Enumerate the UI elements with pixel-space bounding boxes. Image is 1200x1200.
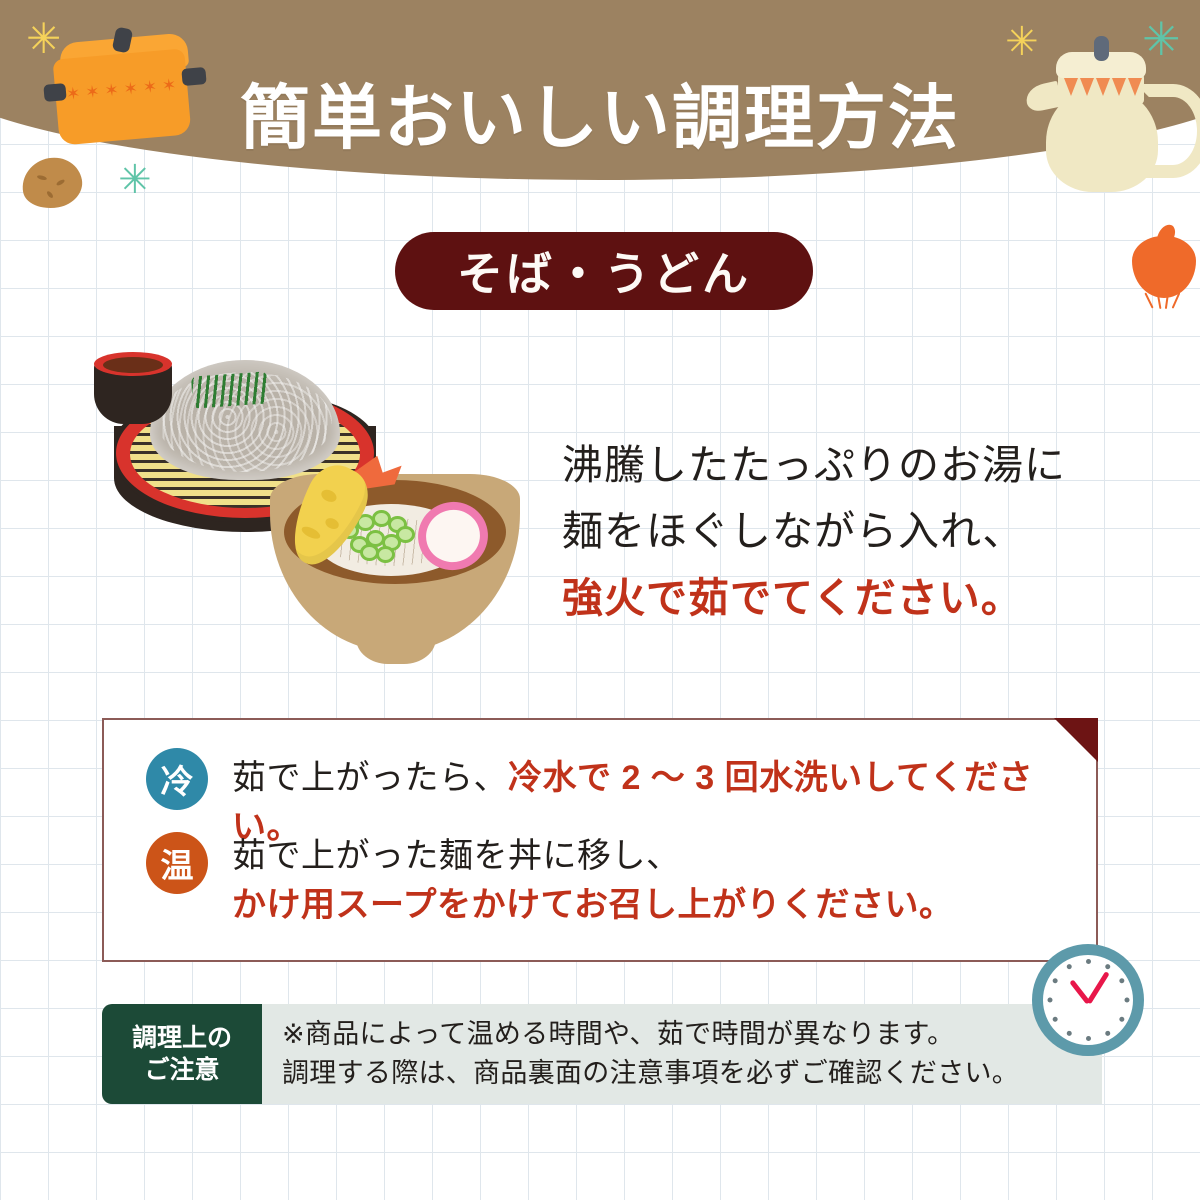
footer-note-line-2: 調理する際は、商品裏面の注意事項を必ずご確認ください。 (282, 1054, 1102, 1093)
dipping-sauce-cup (94, 352, 172, 426)
footer-label: 調理上の ご注意 (102, 1004, 262, 1104)
sparkle-teal-icon: ✳ (118, 160, 152, 200)
footer-note-body: ※商品によって温める時間や、茹で時間が異なります。 調理する際は、商品裏面の注意… (262, 1004, 1102, 1104)
onion-roots (1142, 292, 1188, 312)
header-banner: ✶✶✶✶✶✶ ✳ ✳ ✳ ✳ 簡単おいしい調理方法 (0, 0, 1200, 200)
page-title: 簡単おいしい調理方法 (0, 83, 1200, 153)
footer-label-line-1: 調理上の (132, 1022, 232, 1055)
badge-hot-icon: 温 (146, 832, 208, 894)
instruction-row-hot: 温 茹で上がった麺を丼に移し、 かけ用スープをかけてお召し上がりください。 (146, 832, 953, 931)
main-instruction-text: 沸騰したたっぷりのお湯に 麺をほぐしながら入れ、 強火で茹でてください。 (562, 432, 1082, 631)
food-illustration (80, 338, 580, 683)
clock-icon (1032, 944, 1144, 1056)
sparkle-yellow-icon: ✳ (26, 18, 61, 60)
onion-bulb (1132, 236, 1196, 298)
nori-topping (191, 371, 269, 408)
main-line-2: 麺をほぐしながら入れ、 (562, 498, 1082, 564)
onion-icon (1128, 222, 1200, 312)
clock-minute-hand (1086, 971, 1109, 1004)
cup-sauce (103, 357, 163, 373)
badge-cold-icon: 冷 (146, 748, 208, 810)
footer-note-line-1: ※商品によって温める時間や、茹で時間が異なります。 (282, 1015, 1102, 1054)
cold-text-plain: 茹で上がったら、 (232, 759, 508, 797)
main-line-3-highlight: 強火で茹でてください。 (562, 565, 1082, 631)
hot-text-highlight: かけ用スープをかけてお召し上がりください。 (232, 881, 953, 930)
hot-text-plain: 茹で上がった麺を丼に移し、 (232, 832, 953, 881)
footer-label-line-2: ご注意 (144, 1054, 219, 1087)
main-line-1: 沸騰したたっぷりのお湯に (562, 432, 1082, 498)
category-badge: そば・うどん (395, 232, 813, 310)
infographic-page: ✶✶✶✶✶✶ ✳ ✳ ✳ ✳ 簡単おいしい調理方法 そば・うどん (0, 0, 1200, 1200)
footer-note: 調理上の ご注意 ※商品によって温める時間や、茹で時間が異なります。 調理する際… (102, 1004, 1102, 1104)
instruction-text-hot: 茹で上がった麺を丼に移し、 かけ用スープをかけてお召し上がりください。 (232, 832, 953, 931)
instruction-box: 冷 茹で上がったら、冷水で 2 〜 3 回水洗いしてください。 温 茹で上がった… (102, 718, 1098, 962)
teapot-knob (1094, 36, 1109, 61)
tempura-udon-illustration (270, 456, 520, 671)
